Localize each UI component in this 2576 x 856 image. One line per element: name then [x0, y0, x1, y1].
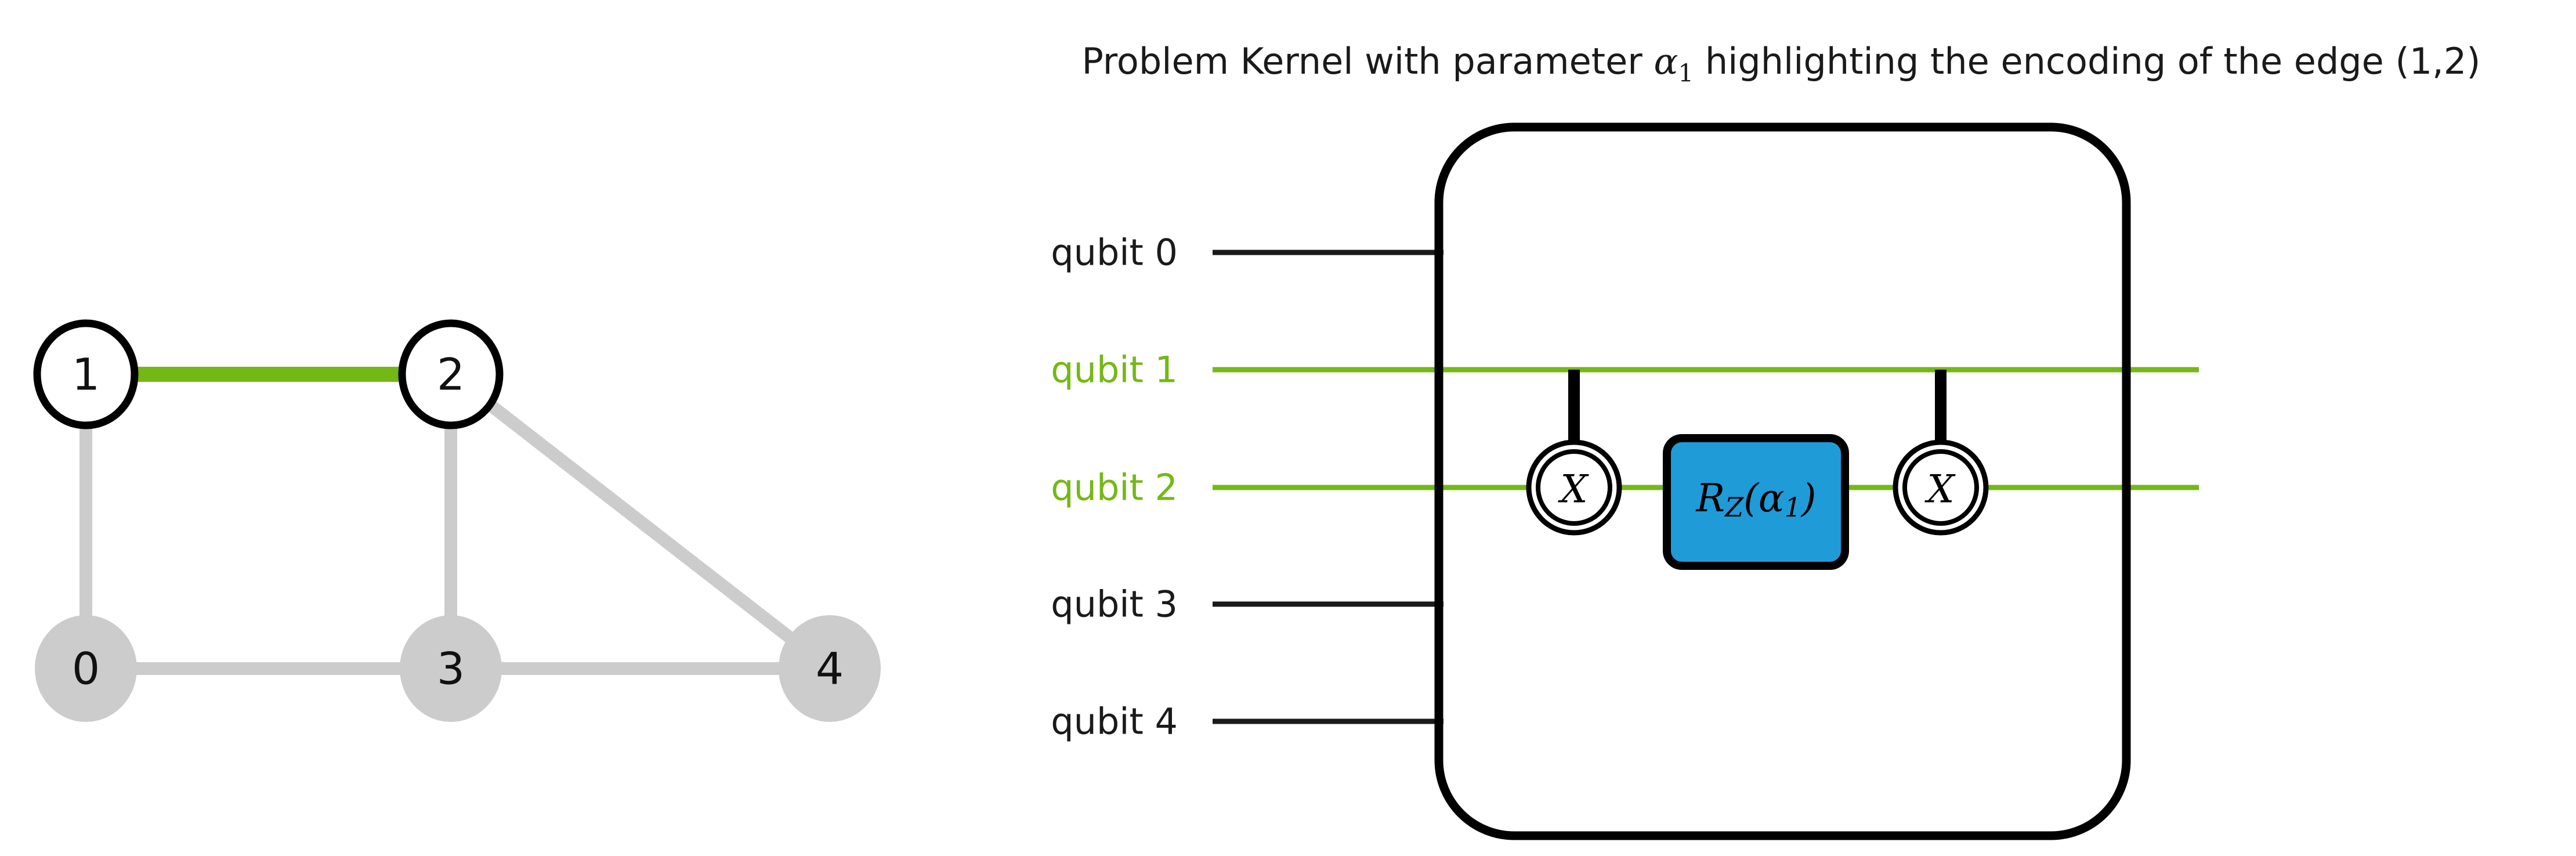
- cnot-1-target-label: X: [1558, 467, 1590, 512]
- qubit-label-3: qubit 3: [1051, 583, 1178, 626]
- circuit-panel: qubit 0 qubit 1 qubit 2 qubit 3 qubit 4: [986, 0, 2576, 856]
- graph-node-1-label: 1: [72, 349, 100, 400]
- graph-node-0[interactable]: 0: [35, 615, 137, 722]
- qubit-labels: qubit 0 qubit 1 qubit 2 qubit 3 qubit 4: [1051, 232, 1178, 743]
- rz-gate-label-base: R: [1695, 476, 1725, 521]
- figure-canvas: 0 3 4 1 2 Problem Kernel with parameter …: [0, 0, 2576, 856]
- rz-gate-label-paren-close: ): [1800, 476, 1817, 521]
- graph-node-2[interactable]: 2: [402, 323, 500, 425]
- cnot-2-target-label: X: [1924, 467, 1956, 512]
- graph-node-0-label: 0: [72, 643, 100, 695]
- graph-node-3-label: 3: [437, 643, 465, 695]
- graph-node-1[interactable]: 1: [37, 323, 135, 425]
- qubit-label-4: qubit 4: [1051, 700, 1178, 743]
- circuit-svg: qubit 0 qubit 1 qubit 2 qubit 3 qubit 4: [986, 0, 2576, 856]
- graph-svg: 0 3 4 1 2: [0, 0, 986, 856]
- cnot-gate-1[interactable]: X: [1529, 370, 1619, 533]
- rz-gate[interactable]: RZ(α1): [1667, 438, 1845, 566]
- rz-gate-label-arg-sub: 1: [1784, 492, 1801, 523]
- qubit-label-1: qubit 1: [1051, 349, 1178, 391]
- graph-node-2-label: 2: [437, 349, 465, 400]
- graph-panel: 0 3 4 1 2: [0, 0, 986, 856]
- rz-gate-label-paren-open: (: [1743, 476, 1759, 521]
- rz-gate-label-arg-base: α: [1759, 476, 1785, 521]
- qubit-label-2: qubit 2: [1051, 467, 1178, 509]
- graph-node-4-label: 4: [816, 643, 844, 695]
- qubit-label-0: qubit 0: [1051, 232, 1178, 274]
- rz-gate-label-sub: Z: [1724, 492, 1744, 523]
- graph-edge-2-4: [451, 374, 830, 669]
- cnot-gate-2[interactable]: X: [1895, 370, 1986, 533]
- graph-node-3[interactable]: 3: [400, 615, 502, 722]
- graph-node-4[interactable]: 4: [779, 615, 881, 722]
